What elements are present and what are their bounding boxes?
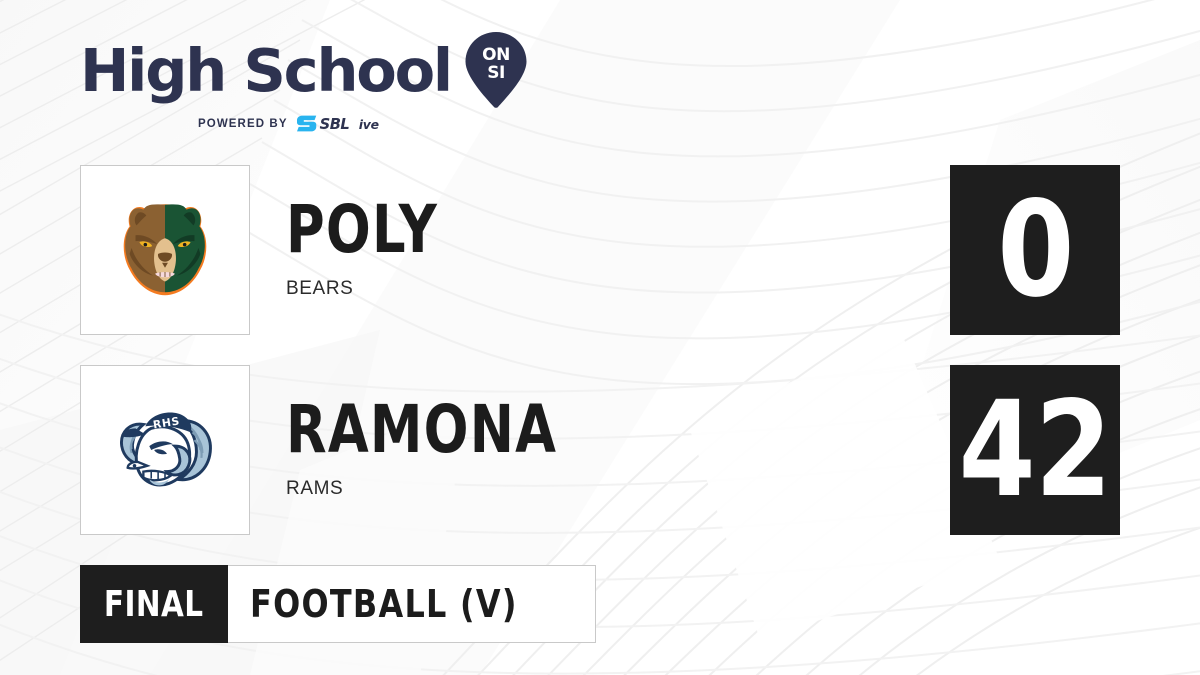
sport-label: FOOTBALL (V) [250, 582, 518, 626]
svg-text:SI: SI [487, 63, 505, 83]
powered-by-label: POWERED BY [198, 118, 288, 130]
game-status-label: FINAL [104, 584, 204, 625]
team-name: RAMONA [286, 397, 557, 463]
ramona-rams-logo-icon: RHS [106, 391, 224, 509]
team-score-box: 42 [950, 365, 1120, 535]
team-logo-box: RHS [80, 365, 250, 535]
team-score: 42 [959, 384, 1112, 516]
svg-text:ive: ive [358, 117, 378, 132]
team-name: POLY [286, 197, 438, 263]
poly-bears-logo-icon [106, 191, 224, 309]
brand-header: High School ON SI POWERED BY SBL ive [80, 32, 527, 132]
on-si-pin-icon: ON SI [465, 32, 527, 108]
svg-text:SBL: SBL [319, 116, 349, 132]
team-score: 0 [997, 184, 1073, 316]
game-status-badge: FINAL [80, 565, 228, 643]
svg-text:ON: ON [482, 45, 510, 65]
team-text-block: RAMONA RAMS [286, 365, 986, 535]
team-logo-box [80, 165, 250, 335]
brand-logo-row: High School ON SI [80, 32, 527, 108]
team-text-block: POLY BEARS [286, 165, 986, 335]
sport-label-box: FOOTBALL (V) [228, 565, 596, 643]
site-wordmark: High School [80, 41, 451, 100]
team-score-box: 0 [950, 165, 1120, 335]
sblive-logo-icon: SBL ive [297, 115, 402, 132]
team-mascot: RAMS [286, 478, 343, 500]
game-status-bar: FINAL FOOTBALL (V) [80, 565, 596, 643]
team-mascot: BEARS [286, 278, 353, 300]
powered-by-row: POWERED BY SBL ive [198, 115, 527, 132]
